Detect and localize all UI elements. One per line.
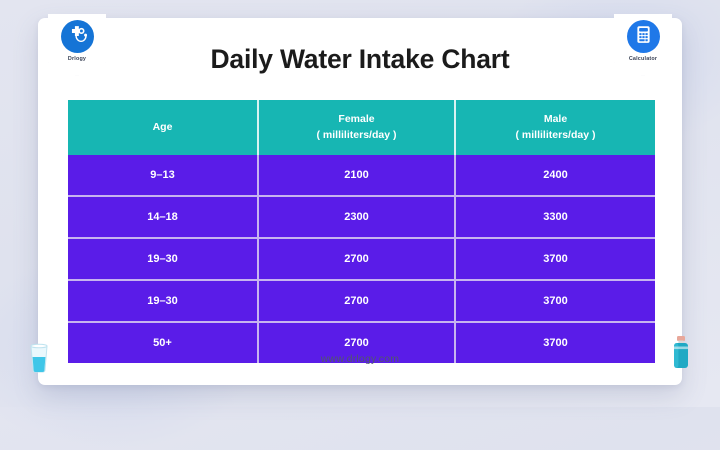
column-header-age-label: Age (69, 120, 256, 135)
footer-website-url: www.drlogy.com (38, 353, 682, 365)
column-header-female-unit: ( milliliters/day ) (260, 128, 453, 143)
table-row: 9–13 2100 2400 (68, 155, 655, 196)
water-bottle-icon (666, 334, 696, 379)
column-header-male-unit: ( milliliters/day ) (457, 128, 654, 143)
water-intake-table: Age Female ( milliliters/day ) Male ( mi… (68, 100, 655, 363)
cell-age: 19–30 (68, 280, 258, 322)
column-header-age: Age (68, 100, 258, 155)
column-header-male-label: Male (457, 112, 654, 127)
water-glass-icon (24, 340, 54, 379)
infographic-card: Drlogy Calculator Daily W (38, 18, 682, 385)
column-header-female: Female ( milliliters/day ) (258, 100, 455, 155)
page-title: Daily Water Intake Chart (38, 44, 682, 75)
table-row: 14–18 2300 3300 (68, 196, 655, 238)
cell-age: 14–18 (68, 196, 258, 238)
cell-female: 2100 (258, 155, 455, 196)
cell-male: 3300 (455, 196, 655, 238)
cell-age: 19–30 (68, 238, 258, 280)
table-header: Age Female ( milliliters/day ) Male ( mi… (68, 100, 655, 155)
cell-male: 3700 (455, 238, 655, 280)
cell-age: 9–13 (68, 155, 258, 196)
cell-female: 2700 (258, 238, 455, 280)
table-row: 19–30 2700 3700 (68, 280, 655, 322)
column-header-male: Male ( milliliters/day ) (455, 100, 655, 155)
table-header-row: Age Female ( milliliters/day ) Male ( mi… (68, 100, 655, 155)
table-row: 19–30 2700 3700 (68, 238, 655, 280)
cell-male: 2400 (455, 155, 655, 196)
table-body: 9–13 2100 2400 14–18 2300 3300 19–30 270… (68, 155, 655, 363)
column-header-female-label: Female (260, 112, 453, 127)
cell-female: 2700 (258, 280, 455, 322)
cell-female: 2300 (258, 196, 455, 238)
cell-male: 3700 (455, 280, 655, 322)
